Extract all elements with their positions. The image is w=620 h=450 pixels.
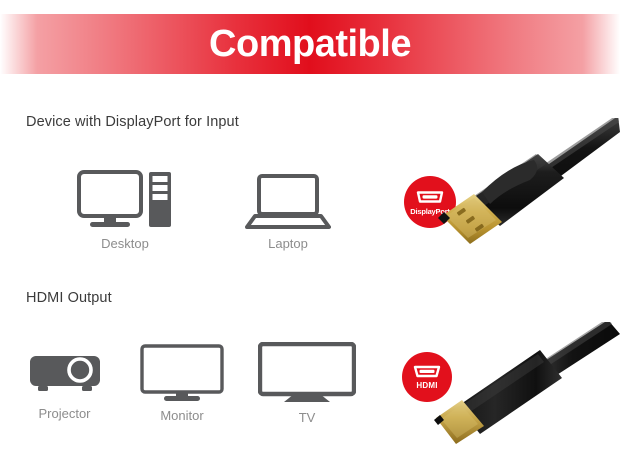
device-label-projector: Projector [12, 406, 117, 421]
device-label-desktop: Desktop [60, 236, 190, 251]
device-tile-monitor: Monitor [128, 344, 236, 423]
projector-icon [28, 348, 102, 400]
tv-icon [258, 342, 356, 404]
section-title-input: Device with DisplayPort for Input [26, 114, 239, 130]
displayport-cable-photo [430, 118, 620, 244]
hdmi-cable-photo [430, 322, 620, 450]
header-banner: Compatible [0, 14, 620, 74]
device-label-monitor: Monitor [128, 408, 236, 423]
device-label-laptop: Laptop [228, 236, 348, 251]
device-tile-tv: TV [248, 342, 366, 425]
laptop-icon [245, 174, 331, 230]
page-title: Compatible [209, 25, 411, 63]
device-label-tv: TV [248, 410, 366, 425]
device-tile-projector: Projector [12, 348, 117, 421]
desktop-icon [77, 170, 173, 230]
device-tile-laptop: Laptop [228, 174, 348, 251]
compatibility-infographic: Compatible Device with DisplayPort for I… [0, 0, 620, 450]
monitor-icon [140, 344, 224, 402]
section-title-output: HDMI Output [26, 290, 112, 306]
device-tile-desktop: Desktop [60, 170, 190, 251]
